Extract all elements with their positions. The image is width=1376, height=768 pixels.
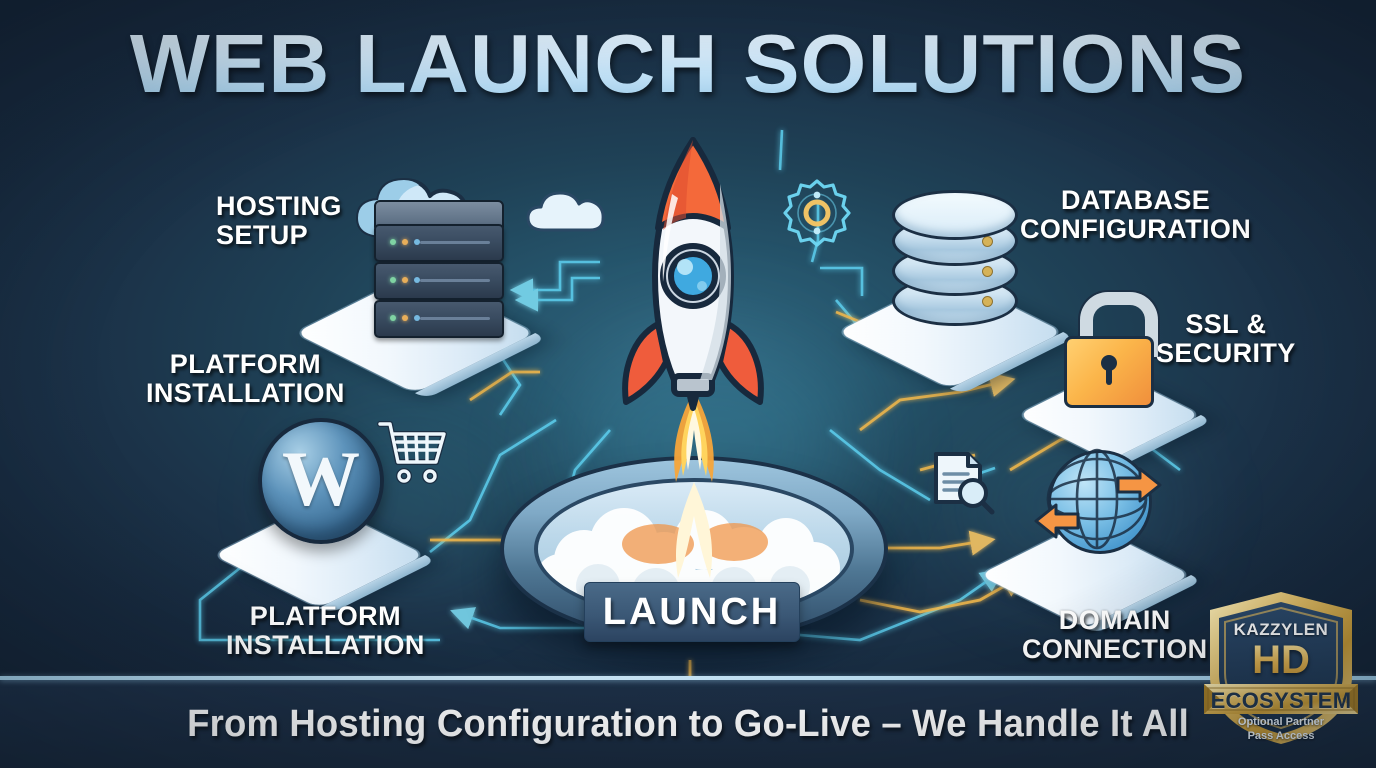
rocket-icon (600, 124, 786, 424)
badge-brand: KAZZYLEN (1202, 620, 1360, 640)
footer-divider (0, 676, 1376, 680)
badge-subtext-line-2: Pass Access (1202, 730, 1360, 744)
launch-button-plate[interactable]: LAUNCH (584, 582, 800, 642)
footer-tagline: From Hosting Configuration to Go-Live – … (28, 703, 1349, 746)
label-line-1: HOSTING (216, 192, 342, 221)
launch-label: LAUNCH (603, 591, 781, 634)
cloud-icon (524, 188, 610, 238)
label-line-2: INSTALLATION (226, 631, 425, 660)
page-title: WEB LAUNCH SOLUTIONS (0, 22, 1376, 105)
shopping-cart-icon (374, 414, 450, 490)
label-line-2: INSTALLATION (146, 379, 345, 408)
server-unit (374, 300, 504, 338)
padlock-icon (1052, 292, 1162, 404)
badge-subtext: Optional Partner Pass Access (1202, 716, 1360, 744)
wordpress-logo-icon: W (258, 418, 388, 548)
label-line-1: DOMAIN (1022, 606, 1208, 635)
label-line-1: PLATFORM (146, 350, 345, 379)
label-line-1: DATABASE (1020, 186, 1251, 215)
badge-subtext-line-1: Optional Partner (1202, 716, 1360, 730)
label-ssl-security: SSL & SECURITY (1156, 310, 1296, 368)
partner-badge: KAZZYLEN HD ECOSYSTEM Optional Partner P… (1202, 588, 1360, 753)
label-line-1: PLATFORM (226, 602, 425, 631)
label-line-2: SETUP (216, 221, 342, 250)
globe-arrows-icon (1022, 442, 1172, 570)
label-platform-installation-bottom: PLATFORM INSTALLATION (226, 602, 425, 660)
label-line-2: CONNECTION (1022, 635, 1208, 664)
label-hosting-setup: HOSTING SETUP (216, 192, 342, 250)
label-domain-connection: DOMAIN CONNECTION (1022, 606, 1208, 664)
badge-ribbon-label: ECOSYSTEM (1202, 688, 1360, 714)
database-stack-icon (880, 190, 1030, 340)
cloud-server-stack-icon (346, 158, 536, 358)
infographic-canvas: WEB LAUNCH SOLUTIONS (0, 0, 1376, 768)
keyhole-icon (1101, 355, 1117, 371)
padlock-body (1064, 336, 1154, 408)
label-line-2: CONFIGURATION (1020, 215, 1251, 244)
badge-grade: HD (1202, 640, 1360, 680)
globe-detail (1022, 442, 1172, 570)
document-search-icon (926, 448, 996, 518)
wordpress-circle: W (258, 418, 384, 544)
label-line-1: SSL & (1156, 310, 1296, 339)
wordpress-letter: W (282, 440, 360, 518)
server-unit (374, 262, 504, 300)
label-line-2: SECURITY (1156, 339, 1296, 368)
label-database-configuration: DATABASE CONFIGURATION (1020, 186, 1251, 244)
server-unit (374, 224, 504, 262)
gear-icon (780, 176, 854, 250)
label-platform-installation-top: PLATFORM INSTALLATION (146, 350, 345, 408)
